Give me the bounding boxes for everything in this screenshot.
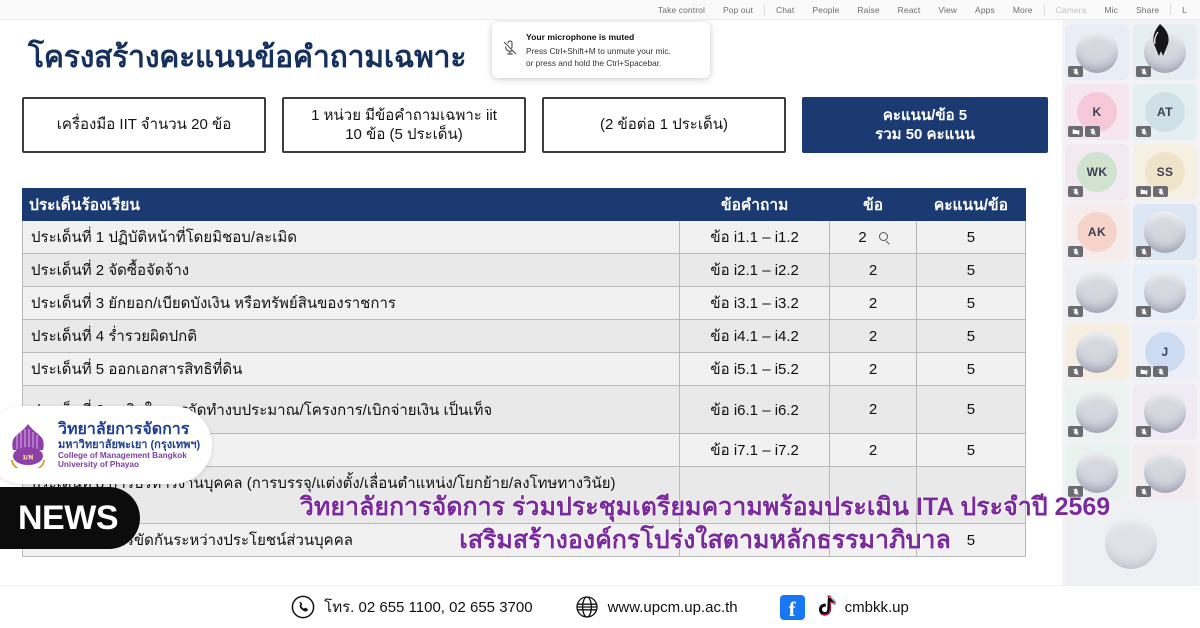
- video-off-icon: [1136, 186, 1151, 197]
- headline-line-1: วิทยาลัยการจัดการ ร่วมประชุมเตรียมความพร…: [210, 492, 1200, 523]
- toolbar-item-people[interactable]: People: [803, 5, 848, 15]
- avatar-initials: AK: [1077, 212, 1117, 252]
- toolbar-item-share[interactable]: Share: [1127, 5, 1168, 15]
- mic-off-icon: [1068, 426, 1083, 437]
- participant-tile[interactable]: [1133, 264, 1197, 320]
- col-header-issue: ประเด็นร้องเรียน: [23, 189, 680, 221]
- globe-icon: [575, 595, 599, 619]
- mic-muted-icon: [502, 40, 518, 61]
- avatar-initials: AT: [1145, 92, 1185, 132]
- mic-off-icon: [1153, 186, 1168, 197]
- cell-score: 5: [916, 434, 1025, 467]
- participant-status-badges: [1136, 246, 1151, 257]
- contact-phone: โทร. 02 655 1100, 02 655 3700: [291, 595, 532, 619]
- cell-issue: ประเด็นที่ 5 ออกเอกสารสิทธิที่ดิน: [23, 353, 680, 386]
- participant-status-badges: [1068, 246, 1083, 257]
- mic-off-icon: [1068, 186, 1083, 197]
- table-row: ประเด็นที่ 5 ออกเอกสารสิทธิที่ดินข้อ i5.…: [23, 353, 1026, 386]
- mic-off-icon: [1068, 246, 1083, 257]
- cmbkk-logo-badge: มพ วิทยาลัยการจัดการ มหาวิทยาลัยพะเยา (ก…: [0, 406, 212, 484]
- cell-count: 2: [830, 320, 917, 353]
- participant-status-badges: [1136, 366, 1168, 377]
- info-chip-label: (2 ข้อต่อ 1 ประเด็น): [600, 115, 728, 134]
- toolbar-separator: [1044, 4, 1045, 15]
- phone-icon: [291, 595, 315, 619]
- meeting-toolbar: Take controlPop outChatPeopleRaiseReactV…: [0, 0, 1200, 20]
- toolbar-separator: [1170, 4, 1171, 15]
- participant-tile[interactable]: WK: [1065, 144, 1129, 200]
- info-chip-3: (2 ข้อต่อ 1 ประเด็น): [542, 97, 786, 153]
- participant-tile[interactable]: [1133, 204, 1197, 260]
- participant-tile[interactable]: SS: [1133, 144, 1197, 200]
- mic-off-icon: [1136, 246, 1151, 257]
- website-text: www.upcm.up.ac.th: [608, 599, 738, 616]
- logo-line-1: วิทยาลัยการจัดการ: [58, 421, 200, 439]
- tiktok-icon[interactable]: [814, 595, 836, 619]
- info-chip-label: เครื่องมือ IIT จำนวน 20 ข้อ: [57, 115, 231, 134]
- participant-status-badges: [1136, 426, 1151, 437]
- mourning-ribbon-icon: [1147, 24, 1173, 80]
- participant-tile[interactable]: [1065, 384, 1129, 440]
- cell-issue: ประเด็นที่ 1 ปฏิบัติหน้าที่โดยมิชอบ/ละเม…: [23, 221, 680, 254]
- cell-count: 2: [830, 254, 917, 287]
- toolbar-item-more[interactable]: More: [1004, 5, 1042, 15]
- table-row: ประเด็นที่ 4 ร่ำรวยผิดปกติข้อ i4.1 – i4.…: [23, 320, 1026, 353]
- facebook-icon[interactable]: f: [780, 595, 805, 620]
- participant-tile[interactable]: [1065, 264, 1129, 320]
- table-row: ประเด็นที่ 1 ปฏิบัติหน้าที่โดยมิชอบ/ละเม…: [23, 221, 1026, 254]
- page-title: โครงสร้างคะแนนข้อคำถามเฉพาะ: [28, 34, 466, 81]
- mic-off-icon: [1085, 126, 1100, 137]
- info-chip-label: คะแนน/ข้อ 5รวม 50 คะแนน: [875, 106, 975, 144]
- toolbar-item-raise[interactable]: Raise: [848, 5, 888, 15]
- participant-status-badges: [1068, 426, 1083, 437]
- participant-tile[interactable]: [1133, 384, 1197, 440]
- table-header-row: ประเด็นร้องเรียน ข้อคำถาม ข้อ คะแนน/ข้อ: [23, 189, 1026, 221]
- cell-score: 5: [916, 254, 1025, 287]
- cell-issue: ประเด็นที่ 2 จัดซื้อจัดจ้าง: [23, 254, 680, 287]
- col-header-count: ข้อ: [830, 189, 917, 221]
- news-badge-label: NEWS: [0, 499, 118, 538]
- cell-question: ข้อ i3.1 – i3.2: [679, 287, 829, 320]
- video-off-icon: [1068, 126, 1083, 137]
- avatar-initials: WK: [1077, 152, 1117, 192]
- video-off-icon: [1136, 366, 1151, 377]
- participant-tile[interactable]: [1065, 324, 1129, 380]
- toolbar-separator: [764, 4, 765, 15]
- cell-score: 5: [916, 386, 1025, 434]
- contact-social[interactable]: f cmbkk.up: [780, 595, 909, 620]
- cell-score: 5: [916, 221, 1025, 254]
- participant-tile[interactable]: [1133, 24, 1197, 80]
- participant-status-badges: [1068, 186, 1083, 197]
- toolbar-item-chat[interactable]: Chat: [767, 5, 803, 15]
- participant-status-badges: [1068, 306, 1083, 317]
- cell-question: ข้อ i5.1 – i5.2: [679, 353, 829, 386]
- mic-off-icon: [1068, 306, 1083, 317]
- cell-count: 2: [830, 287, 917, 320]
- cell-count: 2: [830, 221, 917, 254]
- participant-status-badges: [1068, 366, 1083, 377]
- toolbar-item-view[interactable]: View: [929, 5, 966, 15]
- phayao-crest-icon: มพ: [6, 422, 50, 468]
- cell-question: ข้อ i7.1 – i7.2: [679, 434, 829, 467]
- info-chip-label: 1 หน่วย มีข้อคำถามเฉพาะ iit10 ข้อ (5 ประ…: [311, 106, 497, 144]
- svg-text:มพ: มพ: [23, 453, 34, 462]
- phone-text: โทร. 02 655 1100, 02 655 3700: [324, 595, 532, 619]
- mic-off-icon: [1136, 426, 1151, 437]
- participant-tile[interactable]: J: [1133, 324, 1197, 380]
- logo-text-block: วิทยาลัยการจัดการ มหาวิทยาลัยพะเยา (กรุง…: [58, 421, 200, 470]
- logo-line-2: มหาวิทยาลัยพะเยา (กรุงเทพฯ): [58, 439, 200, 451]
- participant-status-badges: [1136, 186, 1168, 197]
- headline-line-2: เสริมสร้างองค์กรโปร่งใสตามหลักธรรมาภิบาล: [210, 525, 1200, 556]
- news-badge: NEWS: [0, 487, 140, 549]
- participant-tile[interactable]: AT: [1133, 84, 1197, 140]
- cell-score: 5: [916, 287, 1025, 320]
- toolbar-item-take-control[interactable]: Take control: [649, 5, 714, 15]
- col-header-question: ข้อคำถาม: [679, 189, 829, 221]
- info-chip-4: คะแนน/ข้อ 5รวม 50 คะแนน: [802, 97, 1048, 153]
- col-header-score: คะแนน/ข้อ: [916, 189, 1025, 221]
- toolbar-item-mic[interactable]: Mic: [1095, 5, 1127, 15]
- participant-status-badges: [1136, 306, 1151, 317]
- screenshot-root: Take controlPop outChatPeopleRaiseReactV…: [0, 0, 1200, 628]
- mic-tooltip-title: Your microphone is muted: [526, 31, 671, 44]
- mic-off-icon: [1136, 126, 1151, 137]
- toolbar-item-l[interactable]: L: [1173, 5, 1196, 15]
- participant-status-badges: [1136, 126, 1151, 137]
- toolbar-item-camera[interactable]: Camera: [1047, 5, 1096, 15]
- participant-status-badges: [1068, 66, 1083, 77]
- toolbar-item-apps[interactable]: Apps: [966, 5, 1004, 15]
- news-headline: วิทยาลัยการจัดการ ร่วมประชุมเตรียมความพร…: [210, 492, 1200, 555]
- mic-tooltip-text: Your microphone is muted Press Ctrl+Shif…: [526, 31, 671, 70]
- info-chip-2: 1 หน่วย มีข้อคำถามเฉพาะ iit10 ข้อ (5 ประ…: [282, 97, 526, 153]
- mic-off-icon: [1068, 66, 1083, 77]
- cell-question: ข้อ i4.1 – i4.2: [679, 320, 829, 353]
- cell-count: 2: [830, 434, 917, 467]
- toolbar-item-pop-out[interactable]: Pop out: [714, 5, 762, 15]
- mic-tooltip-line1: Press Ctrl+Shift+M to unmute your mic.: [526, 45, 671, 57]
- table-row: ประเด็นที่ 2 จัดซื้อจัดจ้างข้อ i2.1 – i2…: [23, 254, 1026, 287]
- mic-off-icon: [1136, 306, 1151, 317]
- toolbar-item-react[interactable]: React: [889, 5, 930, 15]
- logo-line-3: College of Management Bangkok: [58, 451, 200, 460]
- mic-off-icon: [1068, 366, 1083, 377]
- table-row: ประเด็นที่ 3 ยักยอก/เบียดบังเงิน หรือทรั…: [23, 287, 1026, 320]
- cell-score: 5: [916, 320, 1025, 353]
- cell-question: ข้อ i2.1 – i2.2: [679, 254, 829, 287]
- cell-issue: ประเด็นที่ 4 ร่ำรวยผิดปกติ: [23, 320, 680, 353]
- mic-tooltip-line2: or press and hold the Ctrl+Spacebar.: [526, 57, 671, 69]
- participant-grid: KATWKSSAKJ: [1065, 24, 1197, 500]
- mic-off-icon: [1153, 366, 1168, 377]
- cell-count: 2: [830, 353, 917, 386]
- participant-tile[interactable]: K: [1065, 84, 1129, 140]
- info-chip-row: เครื่องมือ IIT จำนวน 20 ข้อ1 หน่วย มีข้อ…: [22, 97, 1048, 153]
- cell-score: 5: [916, 353, 1025, 386]
- participant-tile[interactable]: [1065, 24, 1129, 80]
- cell-question: ข้อ i1.1 – i1.2: [679, 221, 829, 254]
- cell-question: ข้อ i6.1 – i6.2: [679, 386, 829, 434]
- mic-muted-tooltip: Your microphone is muted Press Ctrl+Shif…: [492, 22, 710, 78]
- participant-tile[interactable]: AK: [1065, 204, 1129, 260]
- cell-issue: ประเด็นที่ 3 ยักยอก/เบียดบังเงิน หรือทรั…: [23, 287, 680, 320]
- mouse-cursor-icon: [879, 232, 888, 241]
- info-chip-1: เครื่องมือ IIT จำนวน 20 ข้อ: [22, 97, 266, 153]
- cell-count: 2: [830, 386, 917, 434]
- participant-status-badges: [1068, 126, 1100, 137]
- logo-line-4: University of Phayao: [58, 460, 200, 469]
- contact-bar: โทร. 02 655 1100, 02 655 3700 www.upcm.u…: [0, 585, 1200, 628]
- social-text: cmbkk.up: [845, 599, 909, 616]
- contact-website[interactable]: www.upcm.up.ac.th: [575, 595, 738, 619]
